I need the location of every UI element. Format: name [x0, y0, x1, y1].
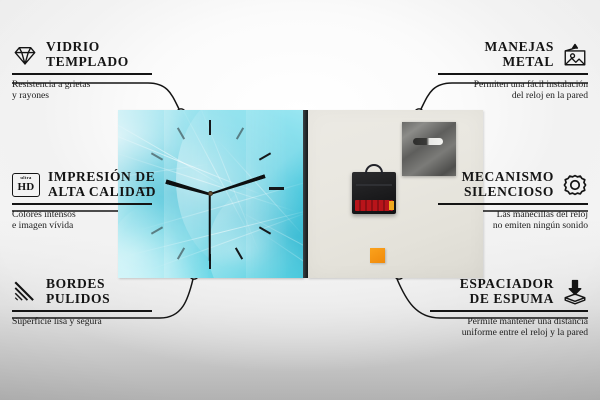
feature-rule: [12, 203, 152, 205]
feature-rule: [430, 310, 588, 312]
gear-icon: [562, 172, 588, 198]
feature-impresion-alta-calidad: ultra HD IMPRESIÓN DE ALTA CALIDAD Color…: [12, 170, 162, 232]
product-images: [118, 110, 483, 278]
feature-desc-line1: Las manecillas del reloj: [438, 209, 588, 221]
feature-rule: [438, 203, 588, 205]
feature-desc-line2: uniforme entre el reloj y la pared: [430, 327, 588, 339]
feature-desc-line2: e imagen vívida: [12, 220, 162, 232]
feature-desc-line1: Permite mantener una distancia: [430, 316, 588, 328]
feature-mecanismo-silencioso: MECANISMO SILENCIOSO Las manecillas del …: [438, 170, 588, 232]
feature-rule: [12, 73, 152, 75]
feature-title-line2: TEMPLADO: [46, 55, 129, 70]
feature-desc-line1: Superficie lisa y segura: [12, 316, 162, 328]
feature-title-line1: BORDES: [46, 277, 110, 292]
feature-title-line1: MECANISMO: [462, 170, 554, 185]
feature-title-line2: SILENCIOSO: [462, 185, 554, 200]
feature-vidrio-templado: VIDRIO TEMPLADO Resistencia a grietas y …: [12, 40, 162, 102]
feature-espaciador-de-espuma: ESPACIADOR DE ESPUMA Permite mantener un…: [430, 277, 588, 339]
metal-bracket: [402, 122, 456, 176]
wall-hanger-icon: [562, 42, 588, 68]
ultra-hd-icon-big-text: HD: [18, 182, 35, 193]
feature-bordes-pulidos: BORDES PULIDOS Superficie lisa y segura: [12, 277, 162, 327]
clock-hand-cap: [208, 191, 213, 196]
quartz-movement: [352, 172, 396, 214]
feature-title-line2: DE ESPUMA: [460, 292, 554, 307]
movement-hanger-hook: [365, 164, 383, 174]
feature-title-line2: METAL: [485, 55, 554, 70]
foam-spacer-icon: [562, 279, 588, 305]
clock-second-hand: [209, 194, 211, 260]
feature-desc-line1: Colores intensos: [12, 209, 162, 221]
infographic-stage: VIDRIO TEMPLADO Resistencia a grietas y …: [0, 0, 600, 400]
feature-title-line1: MANEJAS: [485, 40, 554, 55]
feature-title-line1: VIDRIO: [46, 40, 129, 55]
feature-desc-line2: del reloj en la pared: [438, 90, 588, 102]
polished-edges-icon: [12, 279, 38, 305]
ultra-hd-icon: ultra HD: [12, 173, 40, 197]
foam-spacer: [370, 248, 385, 263]
bracket-keyhole: [413, 138, 443, 145]
feature-rule: [12, 310, 152, 312]
feature-manejas-metal: MANEJAS METAL Permiten una fácil instala…: [438, 40, 588, 102]
movement-seam: [356, 184, 392, 186]
feature-desc-line1: Resistencia a grietas: [12, 79, 162, 91]
battery-terminal: [389, 201, 394, 210]
feature-title-line1: IMPRESIÓN DE: [48, 170, 156, 185]
feature-title-line2: PULIDOS: [46, 292, 110, 307]
feature-desc-line1: Permiten una fácil instalación: [438, 79, 588, 91]
feature-rule: [438, 73, 588, 75]
feature-desc-line2: y rayones: [12, 90, 162, 102]
feature-desc-line2: no emiten ningún sonido: [438, 220, 588, 232]
feature-title-line2: ALTA CALIDAD: [48, 185, 156, 200]
diamond-icon: [12, 42, 38, 68]
battery-label: [355, 200, 393, 211]
feature-title-line1: ESPACIADOR: [460, 277, 554, 292]
